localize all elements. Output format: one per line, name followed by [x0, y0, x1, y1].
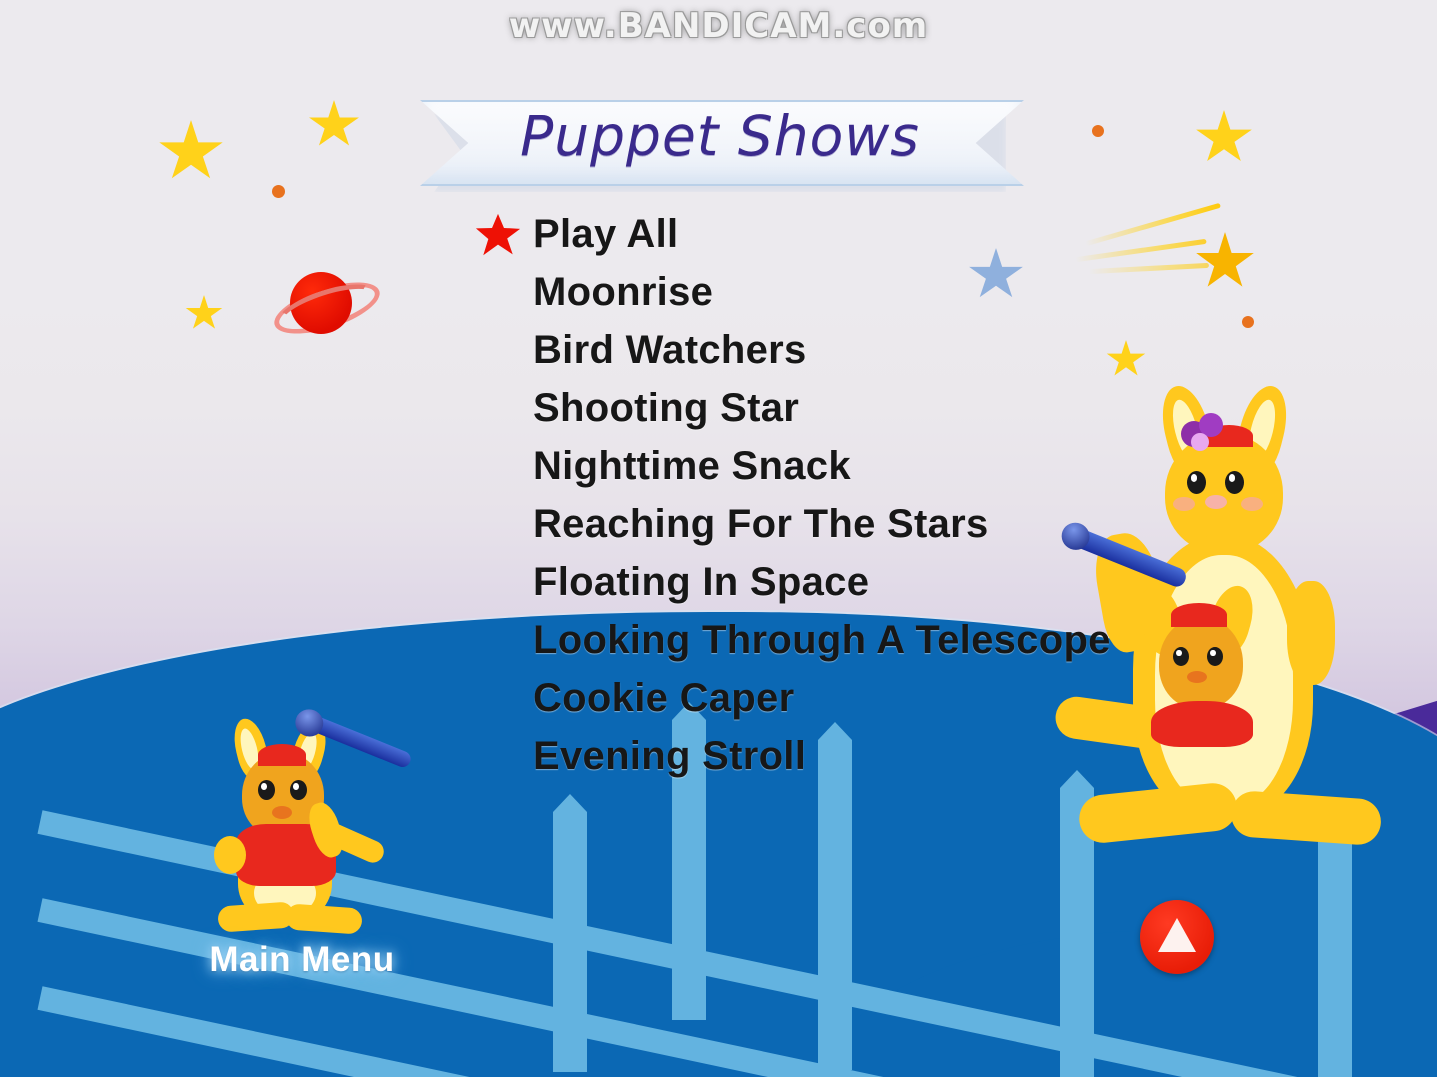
red-ringed-planet-icon	[272, 262, 372, 344]
eye	[1225, 471, 1244, 494]
menu-item-bird-watchers[interactable]: Bird Watchers	[533, 321, 1111, 379]
up-arrow-icon	[1158, 918, 1196, 952]
chapter-menu-list: Play All Moonrise Bird Watchers Shooting…	[533, 205, 1111, 785]
main-menu-label: Main Menu	[182, 940, 422, 980]
menu-item-label: Floating In Space	[533, 562, 869, 602]
yellow-star-icon	[158, 120, 224, 184]
menu-item-label: Cookie Caper	[533, 678, 794, 718]
menu-item-play-all[interactable]: Play All	[533, 205, 1111, 263]
yellow-star-icon	[185, 295, 223, 332]
menu-item-label: Play All	[533, 214, 678, 254]
bandicam-watermark: www.BANDICAM.com	[0, 6, 1437, 46]
orange-dot-icon	[272, 185, 285, 198]
up-arrow-button[interactable]	[1140, 900, 1214, 974]
title-banner: Puppet Shows	[420, 100, 1020, 195]
yellow-star-icon	[1106, 340, 1146, 379]
menu-item-nighttime-snack[interactable]: Nighttime Snack	[533, 437, 1111, 495]
menu-item-label: Looking Through A Telescope	[533, 620, 1111, 660]
orange-dot-icon	[1242, 316, 1254, 328]
menu-item-label: Nighttime Snack	[533, 446, 851, 486]
menu-item-evening-stroll[interactable]: Evening Stroll	[533, 727, 1111, 785]
menu-item-moonrise[interactable]: Moonrise	[533, 263, 1111, 321]
main-menu-button[interactable]: Main Menu	[182, 718, 422, 988]
menu-item-reaching-for-the-stars[interactable]: Reaching For The Stars	[533, 495, 1111, 553]
menu-item-floating-in-space[interactable]: Floating In Space	[533, 553, 1111, 611]
page-title: Puppet Shows	[420, 104, 1020, 168]
menu-item-label: Evening Stroll	[533, 736, 806, 776]
menu-item-label: Reaching For The Stars	[533, 504, 989, 544]
menu-item-label: Bird Watchers	[533, 330, 807, 370]
menu-item-looking-through-a-telescope[interactable]: Looking Through A Telescope	[533, 611, 1111, 669]
menu-item-label: Moonrise	[533, 272, 713, 312]
menu-item-shooting-star[interactable]: Shooting Star	[533, 379, 1111, 437]
dvd-menu-screen: Main Menu Puppet Shows Play All Moonrise…	[0, 0, 1437, 1077]
joey-with-telescope-icon	[182, 718, 422, 933]
orange-dot-icon	[1092, 125, 1104, 137]
eye	[1187, 471, 1206, 494]
yellow-star-icon	[1195, 110, 1253, 166]
red-star-cursor-icon	[475, 213, 521, 257]
menu-item-cookie-caper[interactable]: Cookie Caper	[533, 669, 1111, 727]
yellow-star-icon	[308, 100, 360, 150]
menu-item-label: Shooting Star	[533, 388, 799, 428]
